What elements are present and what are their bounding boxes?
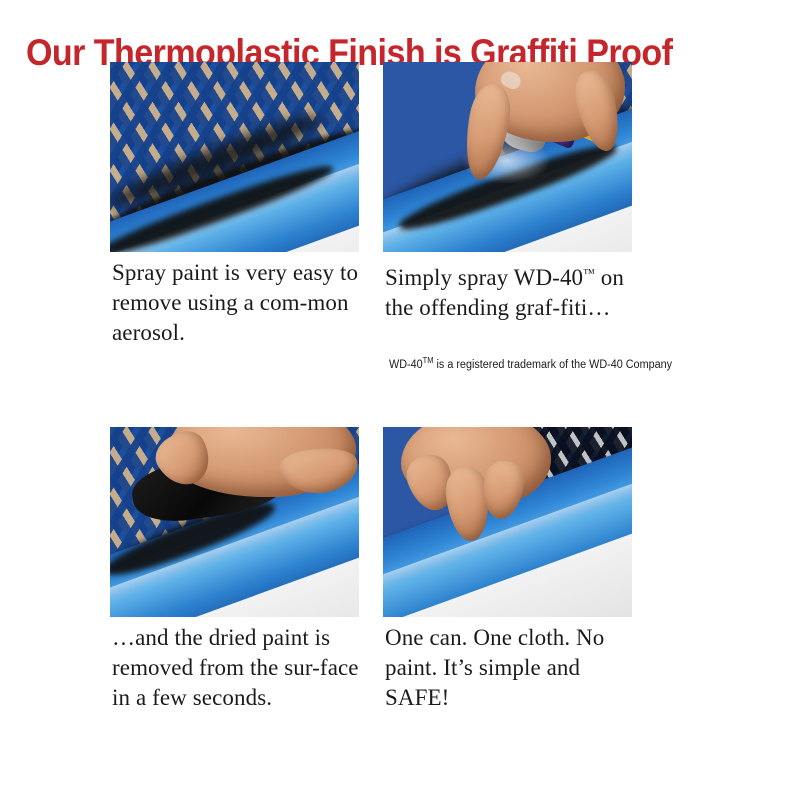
panel-caption: …and the dried paint is removed from the…	[112, 623, 364, 713]
footnote-brand: WD-40	[389, 359, 423, 371]
trademark-icon: TM	[423, 356, 434, 365]
trademark-icon: ™	[583, 266, 595, 280]
caption-text: Simply spray WD-40	[385, 265, 583, 290]
photo-clean-surface	[383, 427, 632, 617]
panel-caption: One can. One cloth. No paint. It’s simpl…	[385, 623, 637, 713]
panel-caption: Spray paint is very easy to remove using…	[112, 258, 364, 348]
panel-row-bottom: …and the dried paint is removed from the…	[0, 427, 800, 792]
panel-caption: Simply spray WD-40™ on the offending gra…	[385, 258, 637, 323]
trademark-footnote: WD-40TM is a registered trademark of the…	[389, 354, 641, 372]
panel-wipe-cloth: …and the dried paint is removed from the…	[110, 427, 360, 617]
photo-spraying-wd40	[383, 62, 632, 252]
panel-grid: Spray paint is very easy to remove using…	[0, 62, 800, 792]
photo-graffiti-on-bench	[110, 62, 359, 252]
panel-clean-result: One can. One cloth. No paint. It’s simpl…	[383, 427, 633, 617]
panel-spray-paint: Spray paint is very easy to remove using…	[110, 62, 360, 252]
photo-wiping-graffiti	[110, 427, 359, 617]
panel-row-top: Spray paint is very easy to remove using…	[0, 62, 800, 427]
footnote-rest: is a registered trademark of the WD-40 C…	[434, 359, 673, 371]
panel-spray-wd40: Simply spray WD-40™ on the offending gra…	[383, 62, 633, 252]
